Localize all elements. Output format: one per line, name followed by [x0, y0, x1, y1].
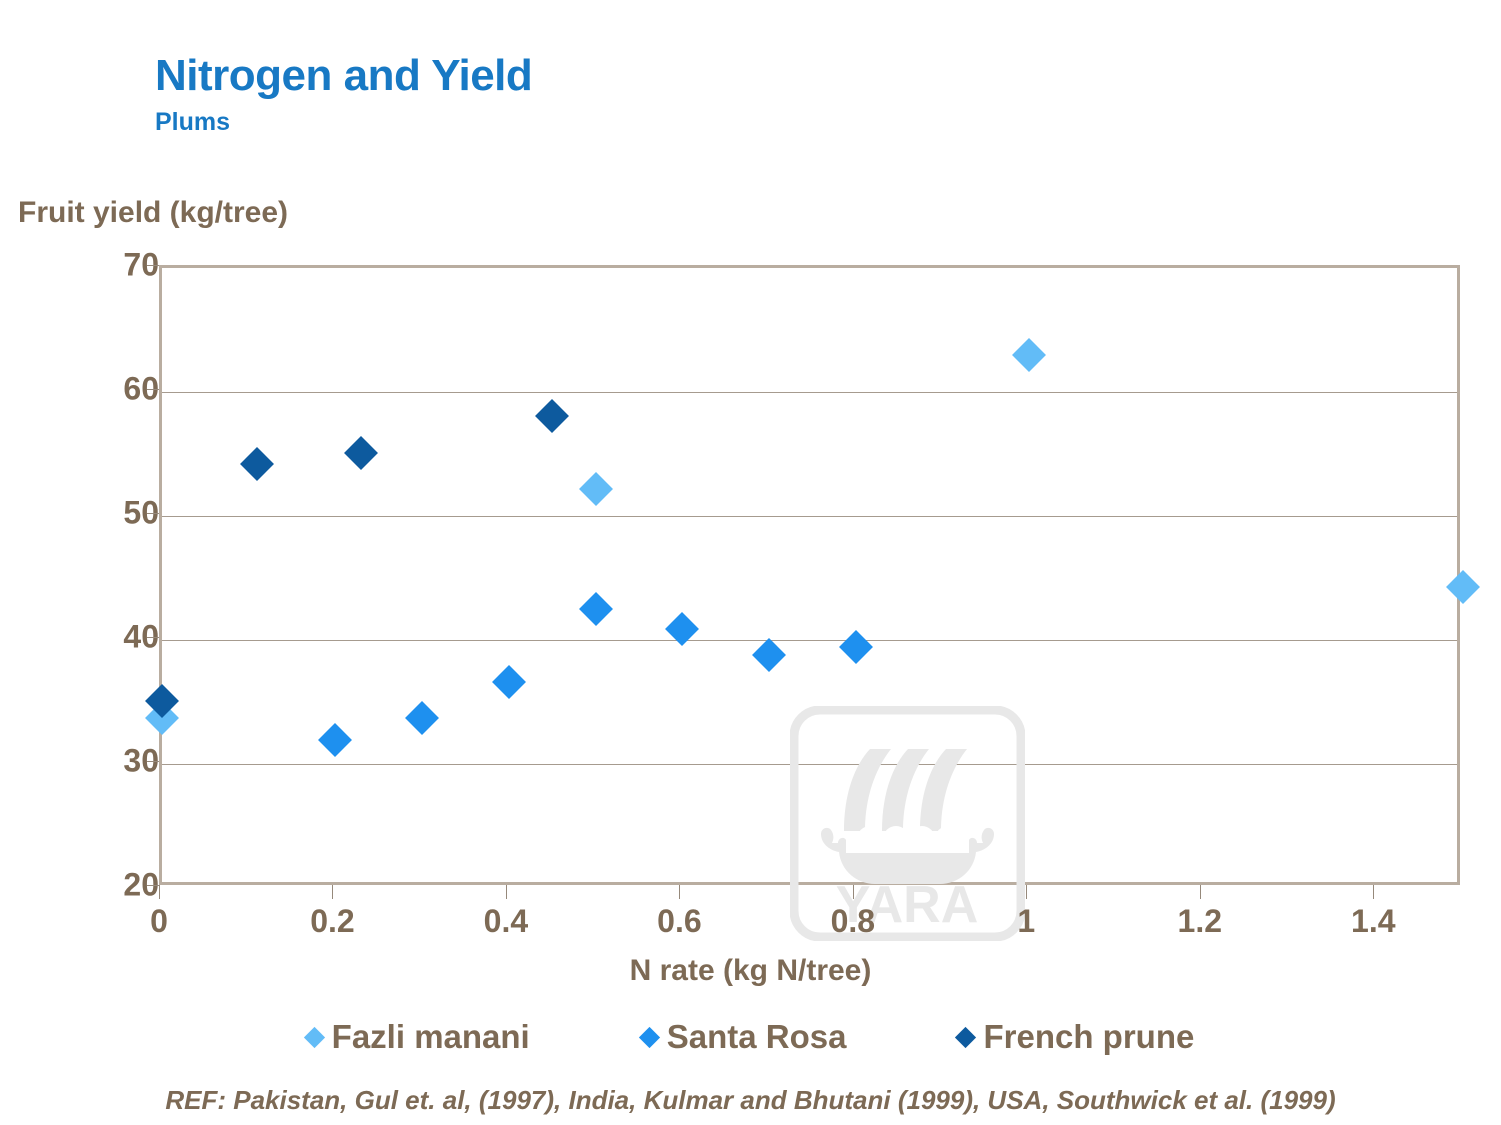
legend-entry-fazli-manani[interactable]: Fazli manani — [307, 1018, 530, 1056]
x-tick-mark-1.4 — [1373, 885, 1374, 899]
x-tick-label-0.2: 0.2 — [310, 903, 354, 940]
x-tick-mark-0.6 — [679, 885, 680, 899]
gridline-y-50 — [162, 516, 1457, 517]
x-tick-mark-1 — [1026, 885, 1027, 899]
data-point — [752, 638, 786, 672]
x-tick-mark-0 — [159, 885, 160, 899]
legend-label: Fazli manani — [332, 1018, 530, 1056]
legend: Fazli mananiSanta RosaFrench prune — [0, 1018, 1501, 1056]
data-point — [839, 630, 873, 664]
y-tick-label-60: 60 — [69, 371, 159, 408]
y-tick-label-40: 40 — [69, 619, 159, 656]
y-tick-label-30: 30 — [69, 743, 159, 780]
data-point — [492, 665, 526, 699]
legend-entry-santa-rosa[interactable]: Santa Rosa — [642, 1018, 847, 1056]
x-tick-mark-0.2 — [332, 885, 333, 899]
x-tick-label-0: 0 — [150, 903, 168, 940]
legend-label: French prune — [983, 1018, 1194, 1056]
data-point — [318, 723, 352, 757]
x-tick-mark-1.2 — [1200, 885, 1201, 899]
gridline-y-40 — [162, 640, 1457, 641]
x-tick-mark-0.8 — [853, 885, 854, 899]
x-tick-label-0.6: 0.6 — [657, 903, 701, 940]
title-block: Nitrogen and Yield Plums — [155, 54, 532, 137]
chart-subtitle: Plums — [155, 108, 532, 137]
x-axis-title: N rate (kg N/tree) — [0, 954, 1501, 988]
y-tick-label-20: 20 — [69, 867, 159, 904]
data-point — [405, 701, 439, 735]
data-point — [535, 399, 569, 433]
x-tick-mark-0.4 — [506, 885, 507, 899]
diamond-icon — [639, 1026, 660, 1047]
data-point — [579, 592, 613, 626]
data-point — [579, 472, 613, 506]
y-tick-label-50: 50 — [69, 495, 159, 532]
diamond-icon — [304, 1026, 325, 1047]
data-point — [345, 436, 379, 470]
x-axis-ticks: 00.20.40.60.811.21.4 — [159, 885, 1460, 955]
y-tick-label-70: 70 — [69, 247, 159, 284]
gridline-y-30 — [162, 764, 1457, 765]
data-point — [240, 447, 274, 481]
plot-area: YARA — [159, 265, 1460, 885]
data-point — [1446, 570, 1480, 604]
gridline-y-60 — [162, 392, 1457, 393]
x-tick-label-1: 1 — [1017, 903, 1035, 940]
diamond-icon — [955, 1026, 976, 1047]
legend-entry-french-prune[interactable]: French prune — [958, 1018, 1194, 1056]
x-tick-label-0.4: 0.4 — [484, 903, 528, 940]
page-title: Nitrogen and Yield — [155, 54, 532, 98]
y-axis-title: Fruit yield (kg/tree) — [18, 196, 288, 230]
y-axis-ticks: 203040506070 — [45, 265, 159, 885]
reference-footnote: REF: Pakistan, Gul et. al, (1997), India… — [0, 1085, 1501, 1116]
data-point — [1012, 338, 1046, 372]
x-tick-label-1.2: 1.2 — [1178, 903, 1222, 940]
x-tick-label-1.4: 1.4 — [1351, 903, 1395, 940]
legend-label: Santa Rosa — [667, 1018, 847, 1056]
x-tick-label-0.8: 0.8 — [831, 903, 875, 940]
